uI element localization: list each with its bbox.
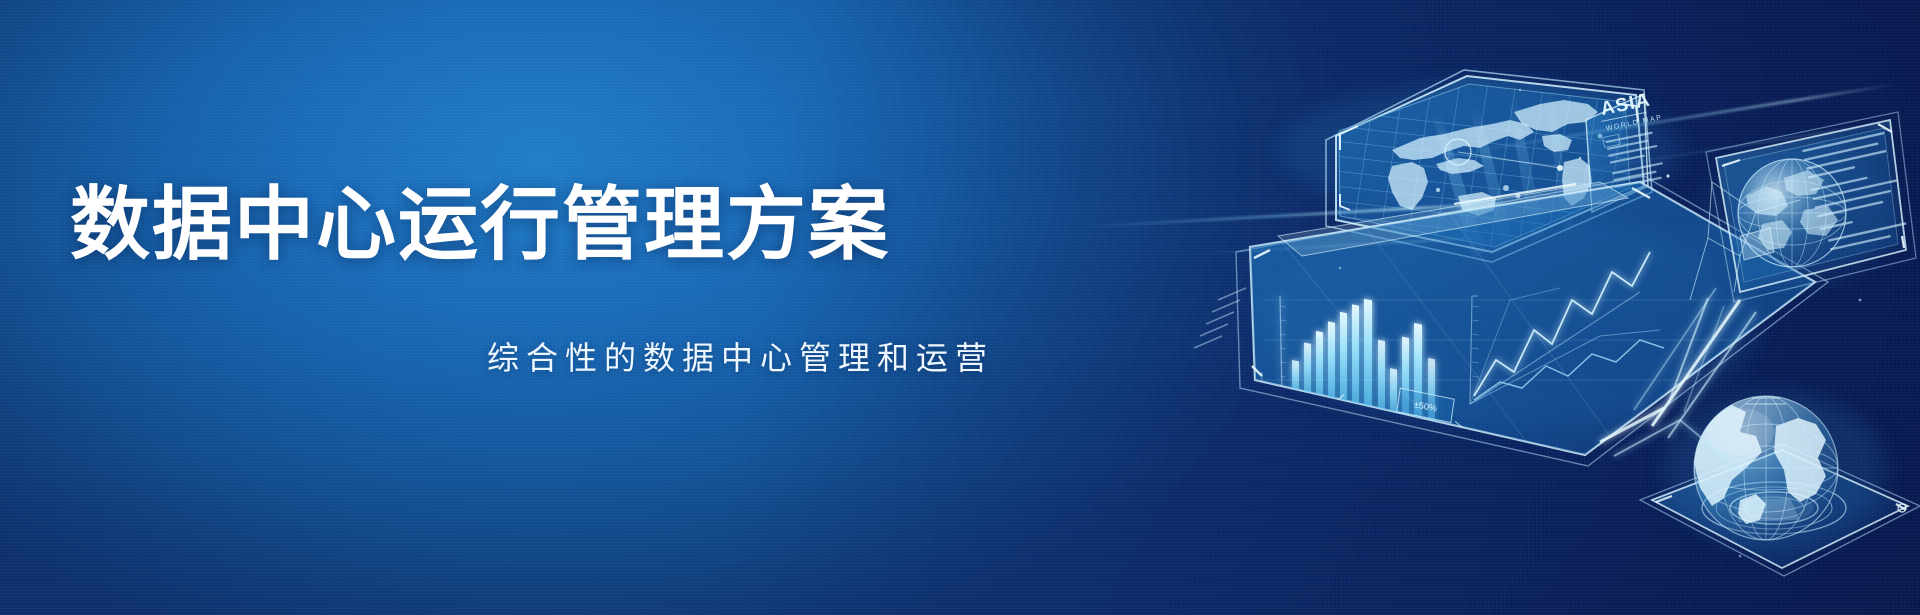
flow-node-right: 350%	[1567, 467, 1594, 483]
flow-node-center: 3420%	[1469, 449, 1502, 466]
banner-copy: 数据中心运行管理方案 综合性的数据中心管理和运营	[0, 0, 1060, 615]
flow-node-bottom: 25%	[1464, 497, 1486, 512]
page-subtitle: 综合性的数据中心管理和运营	[487, 342, 994, 374]
tech-illustration: ASIA WORLD MAP	[1040, 0, 1920, 615]
hero-banner: ASIA WORLD MAP	[0, 0, 1920, 615]
page-title: 数据中心运行管理方案	[70, 185, 890, 265]
flow-node-left: ±150%	[1366, 452, 1395, 467]
